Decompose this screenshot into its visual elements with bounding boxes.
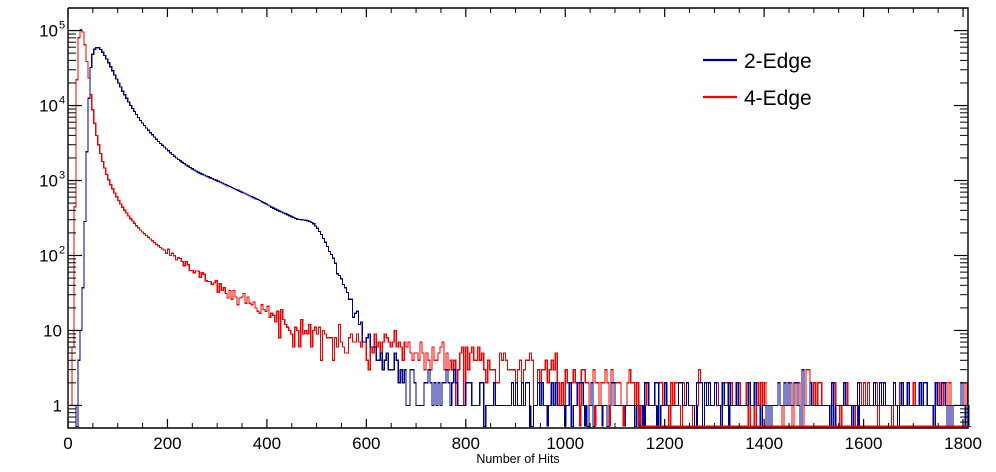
- svg-text:10: 10: [39, 22, 58, 41]
- svg-text:10: 10: [39, 172, 58, 191]
- svg-text:10: 10: [43, 321, 62, 340]
- svg-text:1: 1: [53, 396, 62, 415]
- x-tick-label: 1000: [546, 434, 584, 453]
- legend-label-2-edge: 2-Edge: [744, 50, 812, 73]
- svg-text:4: 4: [59, 95, 65, 107]
- svg-text:2: 2: [59, 244, 65, 256]
- svg-text:5: 5: [59, 20, 65, 32]
- x-tick-label: 1800: [944, 434, 982, 453]
- x-tick-label: 1600: [845, 434, 883, 453]
- x-tick-label: 0: [63, 434, 72, 453]
- chart-canvas: 0200400600800100012001400160018001101021…: [0, 0, 996, 472]
- x-tick-label: 400: [253, 434, 281, 453]
- histogram-plot: 0200400600800100012001400160018001101021…: [0, 0, 996, 472]
- x-tick-label: 1400: [745, 434, 783, 453]
- x-tick-label: 600: [352, 434, 380, 453]
- svg-text:10: 10: [39, 97, 58, 116]
- svg-text:3: 3: [59, 170, 65, 182]
- x-tick-label: 1200: [646, 434, 684, 453]
- plot-background: [0, 0, 996, 472]
- x-tick-label: 800: [452, 434, 480, 453]
- x-tick-label: 200: [153, 434, 181, 453]
- x-axis-title: Number of Hits: [476, 452, 559, 466]
- y-tick-label: 1: [53, 396, 62, 415]
- legend-label-4-edge: 4-Edge: [744, 87, 812, 110]
- y-tick-label: 10: [43, 321, 62, 340]
- svg-text:10: 10: [39, 246, 58, 265]
